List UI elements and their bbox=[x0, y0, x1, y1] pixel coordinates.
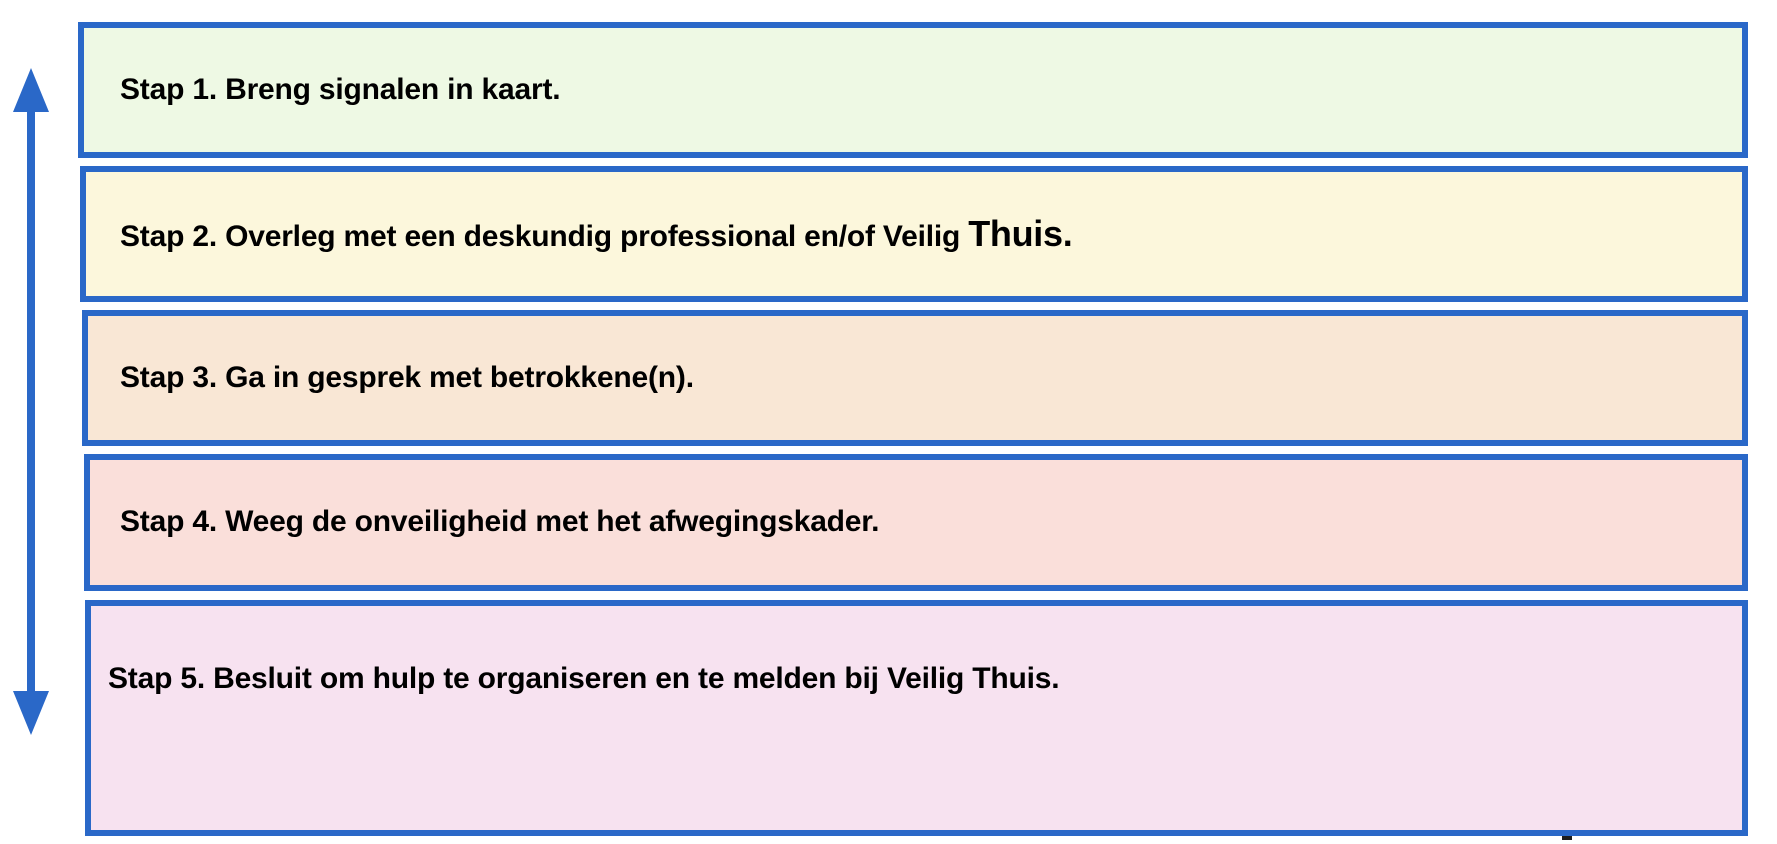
step-box-1[interactable]: Stap 1. Breng signalen in kaart. bbox=[78, 22, 1748, 158]
step-2-label-emphasis: Thuis. bbox=[968, 213, 1072, 254]
vertical-double-arrow-icon bbox=[8, 64, 54, 739]
step-box-2[interactable]: Stap 2. Overleg met een deskundig profes… bbox=[80, 166, 1748, 302]
step-4-label: Stap 4. Weeg de onveiligheid met het afw… bbox=[90, 505, 879, 540]
diagram-canvas: Stap 1. Breng signalen in kaart. Stap 2.… bbox=[0, 0, 1777, 844]
step-1-label: Stap 1. Breng signalen in kaart. bbox=[84, 73, 560, 108]
step-box-4[interactable]: Stap 4. Weeg de onveiligheid met het afw… bbox=[84, 454, 1748, 591]
step-box-3[interactable]: Stap 3. Ga in gesprek met betrokkene(n). bbox=[82, 310, 1748, 446]
double-arrow-svg bbox=[8, 64, 54, 739]
step-2-label: Stap 2. Overleg met een deskundig profes… bbox=[86, 213, 1072, 255]
step-box-5[interactable]: Stap 5. Besluit om hulp te organiseren e… bbox=[85, 600, 1748, 836]
step-2-label-lead: Stap 2. Overleg met een deskundig profes… bbox=[120, 220, 968, 253]
stray-mark bbox=[1562, 836, 1572, 840]
step-5-label: Stap 5. Besluit om hulp te organiseren e… bbox=[91, 662, 1059, 697]
step-3-label: Stap 3. Ga in gesprek met betrokkene(n). bbox=[88, 361, 694, 396]
